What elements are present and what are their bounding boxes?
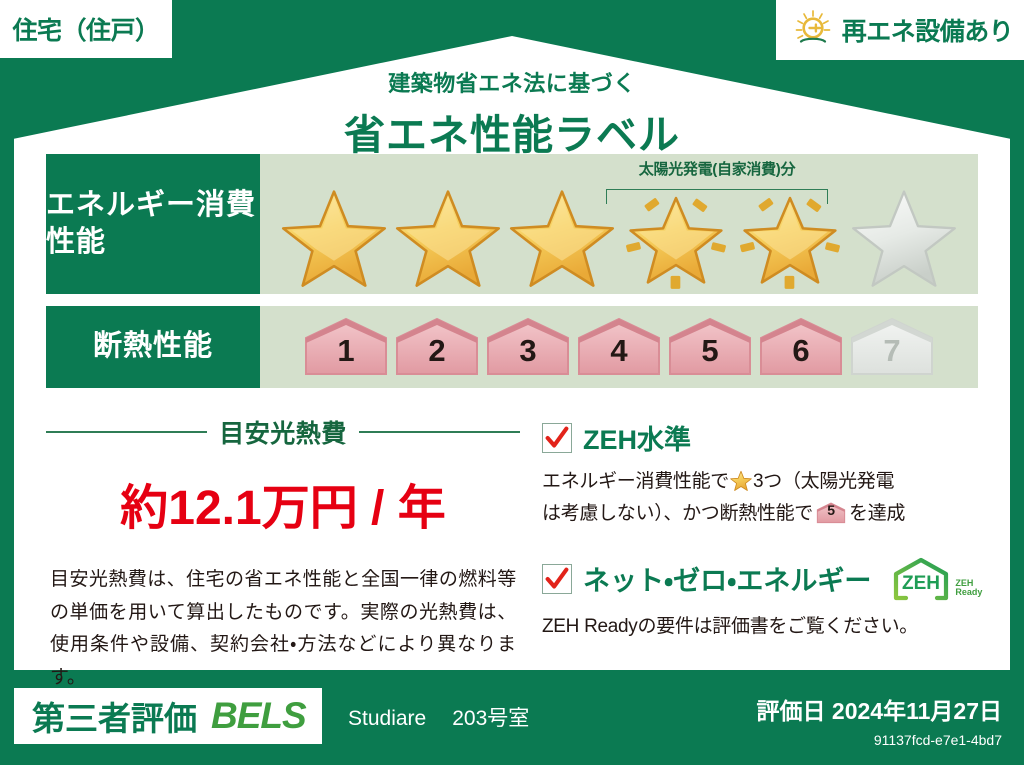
compliance-section: ZEH水準 エネルギー消費性能で3つ（太陽光発電は考慮しない）、かつ断熱性能で5… <box>542 414 982 695</box>
insulation-performance-label: 断熱性能 <box>46 306 260 388</box>
lower-content: 目安光熱費 約12.1万円 / 年 目安光熱費は、住宅の省エネ性能と全国一律の燃… <box>46 414 978 695</box>
net-zero-energy-title: ネット・ゼロ・エネルギー <box>583 559 871 598</box>
energy-performance-body: 太陽光発電(自家消費)分 <box>260 154 978 294</box>
star-icon-sparkle <box>734 184 846 290</box>
checkmark-icon <box>542 564 572 594</box>
label-subtitle: 建築物省エネ法に基づく <box>14 66 1010 98</box>
cost-title: 目安光熱費 <box>219 414 347 450</box>
house-icon: 5 <box>666 316 754 378</box>
room-number: 203号室 <box>452 702 529 732</box>
insulation-level-value: 1 <box>337 335 354 378</box>
zeh-ready-logo: ZEH ZEH Ready <box>890 556 982 602</box>
zeh-text-part-1: エネルギー消費性能で <box>542 471 729 492</box>
zeh-house-badge-value: 5 <box>816 502 846 524</box>
svg-text:ZEH: ZEH <box>902 573 940 594</box>
label-title: 省エネ性能ラベル <box>14 101 1010 161</box>
bels-en-label: BELS <box>211 695 306 737</box>
house-icon: 6 <box>757 316 845 378</box>
cost-rule-right <box>359 431 520 433</box>
house-icon: 3 <box>484 316 572 378</box>
label-card: 建築物省エネ法に基づく 省エネ性能ラベル エネルギー消費性能 太陽光発電(自家消… <box>14 36 1010 670</box>
star-icon <box>506 184 618 290</box>
solar-bracket-label: 太陽光発電(自家消費)分 <box>604 158 830 179</box>
insulation-performance-body: 1 2 <box>260 306 978 388</box>
energy-label-root: 住宅（住戸） 再エネ設備あり <box>0 0 1024 765</box>
net-zero-energy-header: ネット・ゼロ・エネルギー ZEH <box>542 556 982 602</box>
evaluation-id: 91137fcd-e7e1-4bd7 <box>757 732 1002 748</box>
bels-jp-label: 第三者評価 <box>32 692 197 740</box>
bels-badge: 第三者評価 BELS <box>14 688 322 744</box>
zeh-standard-text: エネルギー消費性能で3つ（太陽光発電は考慮しない）、かつ断熱性能で5を達成 <box>542 466 982 530</box>
star-icon <box>392 184 504 290</box>
footer-bar: 第三者評価 BELS Studiare 203号室 評価日 2024年11月27… <box>0 670 1024 765</box>
zeh-standard-title: ZEH水準 <box>583 418 691 457</box>
zeh-standard-block: ZEH水準 エネルギー消費性能で3つ（太陽光発電は考慮しない）、かつ断熱性能で5… <box>542 418 982 530</box>
insulation-level-value: 3 <box>519 335 536 378</box>
zeh-standard-header: ZEH水準 <box>542 418 982 457</box>
checkmark-icon <box>542 423 572 453</box>
insulation-level-value: 6 <box>792 335 809 378</box>
cost-section: 目安光熱費 約12.1万円 / 年 目安光熱費は、住宅の省エネ性能と全国一律の燃… <box>46 414 520 695</box>
zeh-text-part-2: 3つ（太陽光発電 <box>753 471 894 492</box>
house-icon: 4 <box>575 316 663 378</box>
evaluation-date: 評価日 2024年11月27日 <box>757 692 1002 726</box>
insulation-performance-row: 断熱性能 <box>46 306 978 388</box>
star-icon-inline <box>730 470 752 491</box>
cost-rule-left <box>46 431 207 433</box>
zeh-text-part-4: を達成 <box>849 503 905 524</box>
energy-performance-row: エネルギー消費性能 太陽光発電(自家消費)分 <box>46 154 978 294</box>
zeh-ready-line2: Ready <box>955 587 982 597</box>
insulation-level-value: 7 <box>883 335 900 378</box>
zeh-text-part-3: は考慮しない）、かつ断熱性能で <box>542 503 813 524</box>
star-rating <box>260 184 978 290</box>
building-name: Studiare <box>348 707 426 731</box>
evaluation-info: 評価日 2024年11月27日 91137fcd-e7e1-4bd7 <box>757 692 1002 748</box>
house-icon-empty: 7 <box>848 316 936 378</box>
insulation-level-value: 2 <box>428 335 445 378</box>
house-icon-inline: 5 <box>816 502 846 524</box>
building-info: Studiare 203号室 <box>348 702 529 732</box>
star-icon-empty <box>848 184 960 290</box>
energy-performance-label: エネルギー消費性能 <box>46 154 260 294</box>
cost-header: 目安光熱費 <box>46 414 520 450</box>
house-icon: 2 <box>393 316 481 378</box>
insulation-level-value: 4 <box>610 335 627 378</box>
house-icon: 1 <box>302 316 390 378</box>
cost-value: 約12.1万円 / 年 <box>46 468 520 538</box>
zeh-ready-sublabel: ZEH Ready <box>955 579 982 602</box>
insulation-level-scale: 1 2 <box>260 306 978 388</box>
performance-rows: エネルギー消費性能 太陽光発電(自家消費)分 <box>46 154 978 388</box>
net-zero-energy-note: ZEH Readyの要件は評価書をご覧ください。 <box>542 611 982 643</box>
star-icon <box>278 184 390 290</box>
label-title-block: 建築物省エネ法に基づく 省エネ性能ラベル <box>14 66 1010 161</box>
star-icon-sparkle <box>620 184 732 290</box>
insulation-level-value: 5 <box>701 335 718 378</box>
net-zero-energy-block: ネット・ゼロ・エネルギー ZEH <box>542 556 982 643</box>
